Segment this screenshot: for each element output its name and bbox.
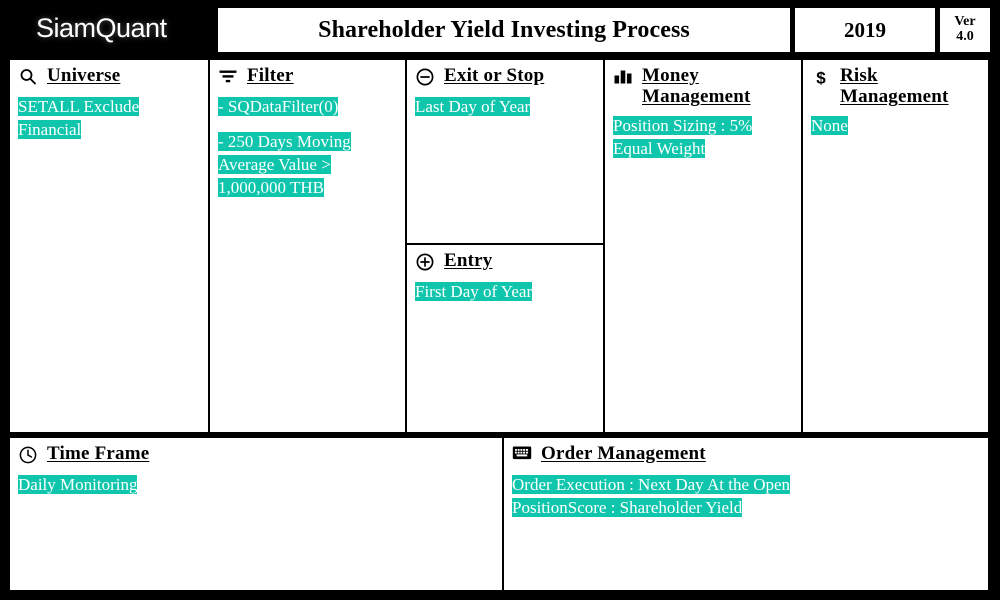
panel-risk-body: None <box>803 108 988 138</box>
header-bar: SiamQuant Shareholder Yield Investing Pr… <box>0 0 1000 56</box>
panel-time-body: Daily Monitoring <box>10 467 502 497</box>
page-title-text: Shareholder Yield Investing Process <box>318 17 690 44</box>
panel-risk-management[interactable]: $ Risk Management None <box>801 58 990 434</box>
panel-filter[interactable]: Filter - SQDataFilter(0) - 250 Days Movi… <box>208 58 407 434</box>
panel-order-management[interactable]: Order Management Order Execution : Next … <box>502 436 990 592</box>
panel-universe-line-0: SETALL Exclude Financial <box>18 96 200 142</box>
panel-risk-title: Risk Management <box>840 65 988 108</box>
panel-order-line-0: Order Execution : Next Day At the Open <box>512 474 980 497</box>
panel-universe-header: Universe <box>10 60 208 89</box>
clock-icon <box>18 445 38 467</box>
filter-icon <box>218 67 238 89</box>
panel-order-title: Order Management <box>541 443 706 464</box>
panel-money-management[interactable]: Money Management Position Sizing : 5% Eq… <box>603 58 803 434</box>
panel-filter-line-0: - SQDataFilter(0) <box>218 96 397 119</box>
year-badge: 2019 <box>795 8 935 52</box>
panel-time-header: Time Frame <box>10 438 502 467</box>
panel-universe-body: SETALL Exclude Financial <box>10 89 208 142</box>
panel-time-line-0: Daily Monitoring <box>18 474 494 497</box>
panel-filter-header: Filter <box>210 60 405 89</box>
panel-universe-title: Universe <box>47 65 120 86</box>
panel-risk-line-0: None <box>811 115 980 138</box>
keyboard-icon <box>512 445 532 467</box>
panel-risk-header: $ Risk Management <box>803 60 988 108</box>
panel-entry-line-0: First Day of Year <box>415 281 595 304</box>
panel-universe[interactable]: Universe SETALL Exclude Financial <box>8 58 210 434</box>
panel-exit-header: Exit or Stop <box>407 60 603 89</box>
panel-time-frame[interactable]: Time Frame Daily Monitoring <box>8 436 504 592</box>
panel-entry-body: First Day of Year <box>407 274 603 304</box>
panel-order-body: Order Execution : Next Day At the Open P… <box>504 467 988 520</box>
page-title: Shareholder Yield Investing Process <box>218 8 790 52</box>
version-number: 4.0 <box>956 30 974 45</box>
dollar-icon: $ <box>811 67 831 89</box>
panel-money-header: Money Management <box>605 60 801 108</box>
panel-order-header: Order Management <box>504 438 988 467</box>
panel-exit-body: Last Day of Year <box>407 89 603 119</box>
bar-chart-icon <box>613 67 633 89</box>
search-icon <box>18 67 38 89</box>
circle-minus-icon <box>415 67 435 89</box>
panel-entry[interactable]: Entry First Day of Year <box>405 243 605 434</box>
brand-logo: SiamQuant <box>36 13 167 44</box>
panel-money-line-0: Position Sizing : 5% Equal Weight <box>613 115 793 161</box>
panel-exit-title: Exit or Stop <box>444 65 544 86</box>
year-text: 2019 <box>844 18 886 43</box>
panel-entry-header: Entry <box>407 245 603 274</box>
process-top-row: Universe SETALL Exclude Financial Filter <box>8 58 990 434</box>
panel-filter-title: Filter <box>247 65 294 86</box>
svg-text:$: $ <box>816 69 826 88</box>
panel-money-body: Position Sizing : 5% Equal Weight <box>605 108 801 161</box>
version-badge: Ver 4.0 <box>940 8 990 52</box>
panel-exit-or-stop[interactable]: Exit or Stop Last Day of Year <box>405 58 605 245</box>
version-label: Ver <box>954 15 975 30</box>
panel-order-line-1: PositionScore : Shareholder Yield <box>512 497 980 520</box>
panel-money-title: Money Management <box>642 65 801 108</box>
panel-filter-line-1: - 250 Days Moving Average Value > 1,000,… <box>218 131 397 200</box>
circle-plus-icon <box>415 252 435 274</box>
process-diagram-page: SiamQuant Shareholder Yield Investing Pr… <box>0 0 1000 600</box>
panel-time-title: Time Frame <box>47 443 149 464</box>
panel-filter-body: - SQDataFilter(0) - 250 Days Moving Aver… <box>210 89 405 200</box>
panel-exit-line-0: Last Day of Year <box>415 96 595 119</box>
panel-entry-title: Entry <box>444 250 493 271</box>
process-bottom-row: Time Frame Daily Monitoring <box>8 436 990 592</box>
